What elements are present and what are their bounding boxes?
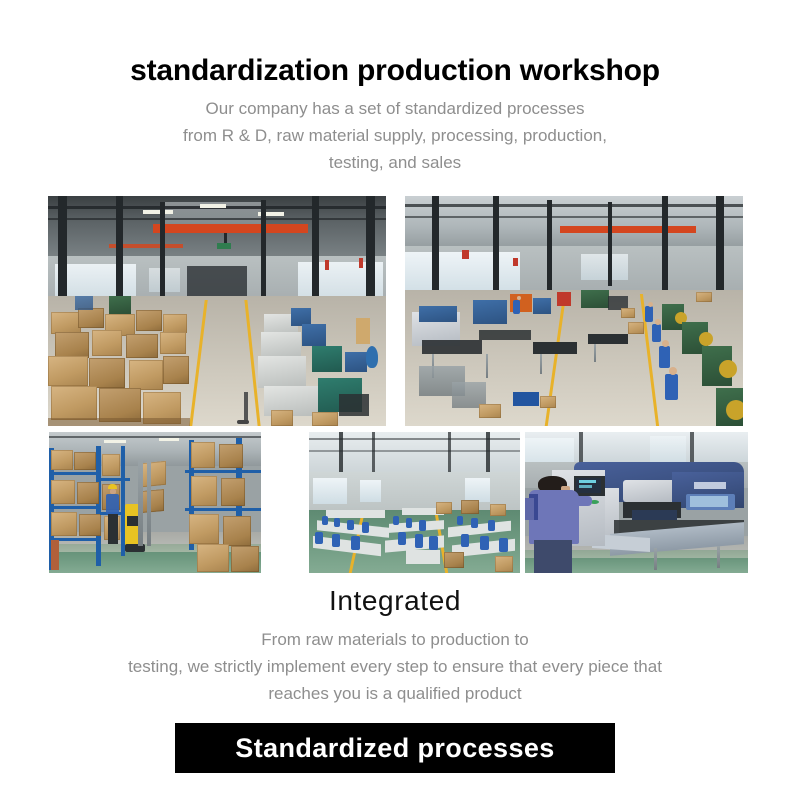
intro-paragraph: Our company has a set of standardized pr… — [0, 95, 790, 176]
standardized-processes-banner: Standardized processes — [175, 723, 615, 773]
outro-paragraph: From raw materials to production to test… — [0, 626, 790, 707]
photo-warehouse-forklift — [49, 432, 261, 573]
photo-sheet-metal-shop — [405, 196, 743, 426]
outro-line-1: From raw materials to production to — [0, 626, 790, 653]
intro-line-1: Our company has a set of standardized pr… — [0, 95, 790, 122]
photo-assembly-lines — [309, 432, 520, 573]
section-subtitle: Integrated — [0, 585, 790, 617]
page-title: standardization production workshop — [0, 54, 790, 88]
poster-root: standardization production workshop Our … — [0, 0, 790, 790]
photo-injection-molding-hall — [48, 196, 386, 426]
intro-line-3: testing, and sales — [0, 149, 790, 176]
outro-line-3: reaches you is a qualified product — [0, 680, 790, 707]
banner-label: Standardized processes — [235, 735, 554, 762]
outro-line-2: testing, we strictly implement every ste… — [0, 653, 790, 680]
photo-cnc-punch-operator — [525, 432, 748, 573]
intro-line-2: from R & D, raw material supply, process… — [0, 122, 790, 149]
